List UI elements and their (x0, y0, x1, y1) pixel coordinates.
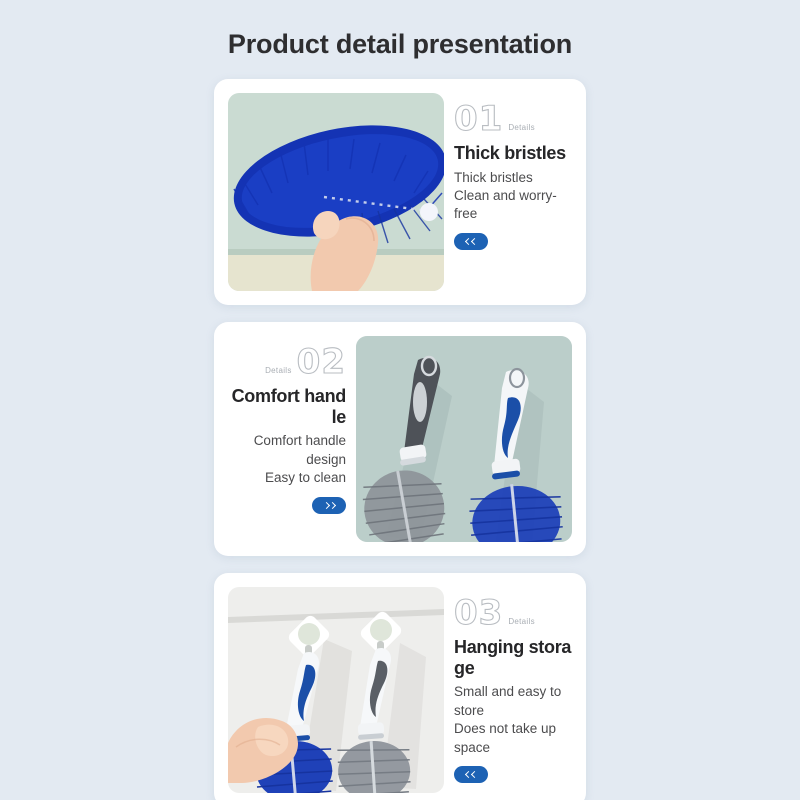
number-row-03: 03 Details (454, 597, 535, 629)
step-number: 03 (454, 597, 503, 629)
card-description: Small and easy to storeDoes not take up … (454, 683, 572, 756)
chevron-left-icon (470, 771, 477, 778)
detail-card-02[interactable]: 02 Details Comfort handle Comfort handle… (214, 322, 586, 556)
step-number: 02 (297, 346, 346, 378)
detail-card-01[interactable]: 01 Details Thick bristles Thick bristles… (214, 79, 586, 305)
details-label: Details (508, 617, 535, 626)
double-chevron-left-icon-button[interactable] (454, 766, 488, 783)
card-description: Thick bristlesClean and worry-free (454, 169, 572, 224)
double-chevron-right-icon-button[interactable] (312, 497, 346, 514)
double-chevron-left-icon-button[interactable] (454, 233, 488, 250)
number-row-01: 01 Details (454, 103, 535, 135)
detail-text-01: 01 Details Thick bristles Thick bristles… (454, 93, 572, 291)
product-photo-hanging-storage (228, 587, 444, 793)
card-title: Hanging storage (454, 637, 572, 679)
card-title: Comfort handle (228, 386, 346, 428)
card-description: Comfort handle designEasy to clean (228, 432, 346, 487)
number-row-02: 02 Details (265, 346, 346, 378)
detail-text-02: 02 Details Comfort handle Comfort handle… (228, 336, 346, 542)
product-photo-thick-bristles (228, 93, 444, 291)
page-title: Product detail presentation (0, 0, 800, 60)
detail-text-03: 03 Details Hanging storage Small and eas… (454, 587, 572, 793)
details-label: Details (508, 123, 535, 132)
details-label: Details (265, 366, 292, 375)
detail-card-03[interactable]: 03 Details Hanging storage Small and eas… (214, 573, 586, 800)
detail-card-list: 01 Details Thick bristles Thick bristles… (0, 79, 800, 800)
card-title: Thick bristles (454, 143, 566, 164)
chevron-right-icon (328, 501, 335, 508)
product-photo-comfort-handle (356, 336, 572, 542)
chevron-left-icon (470, 238, 477, 245)
step-number: 01 (454, 103, 503, 135)
